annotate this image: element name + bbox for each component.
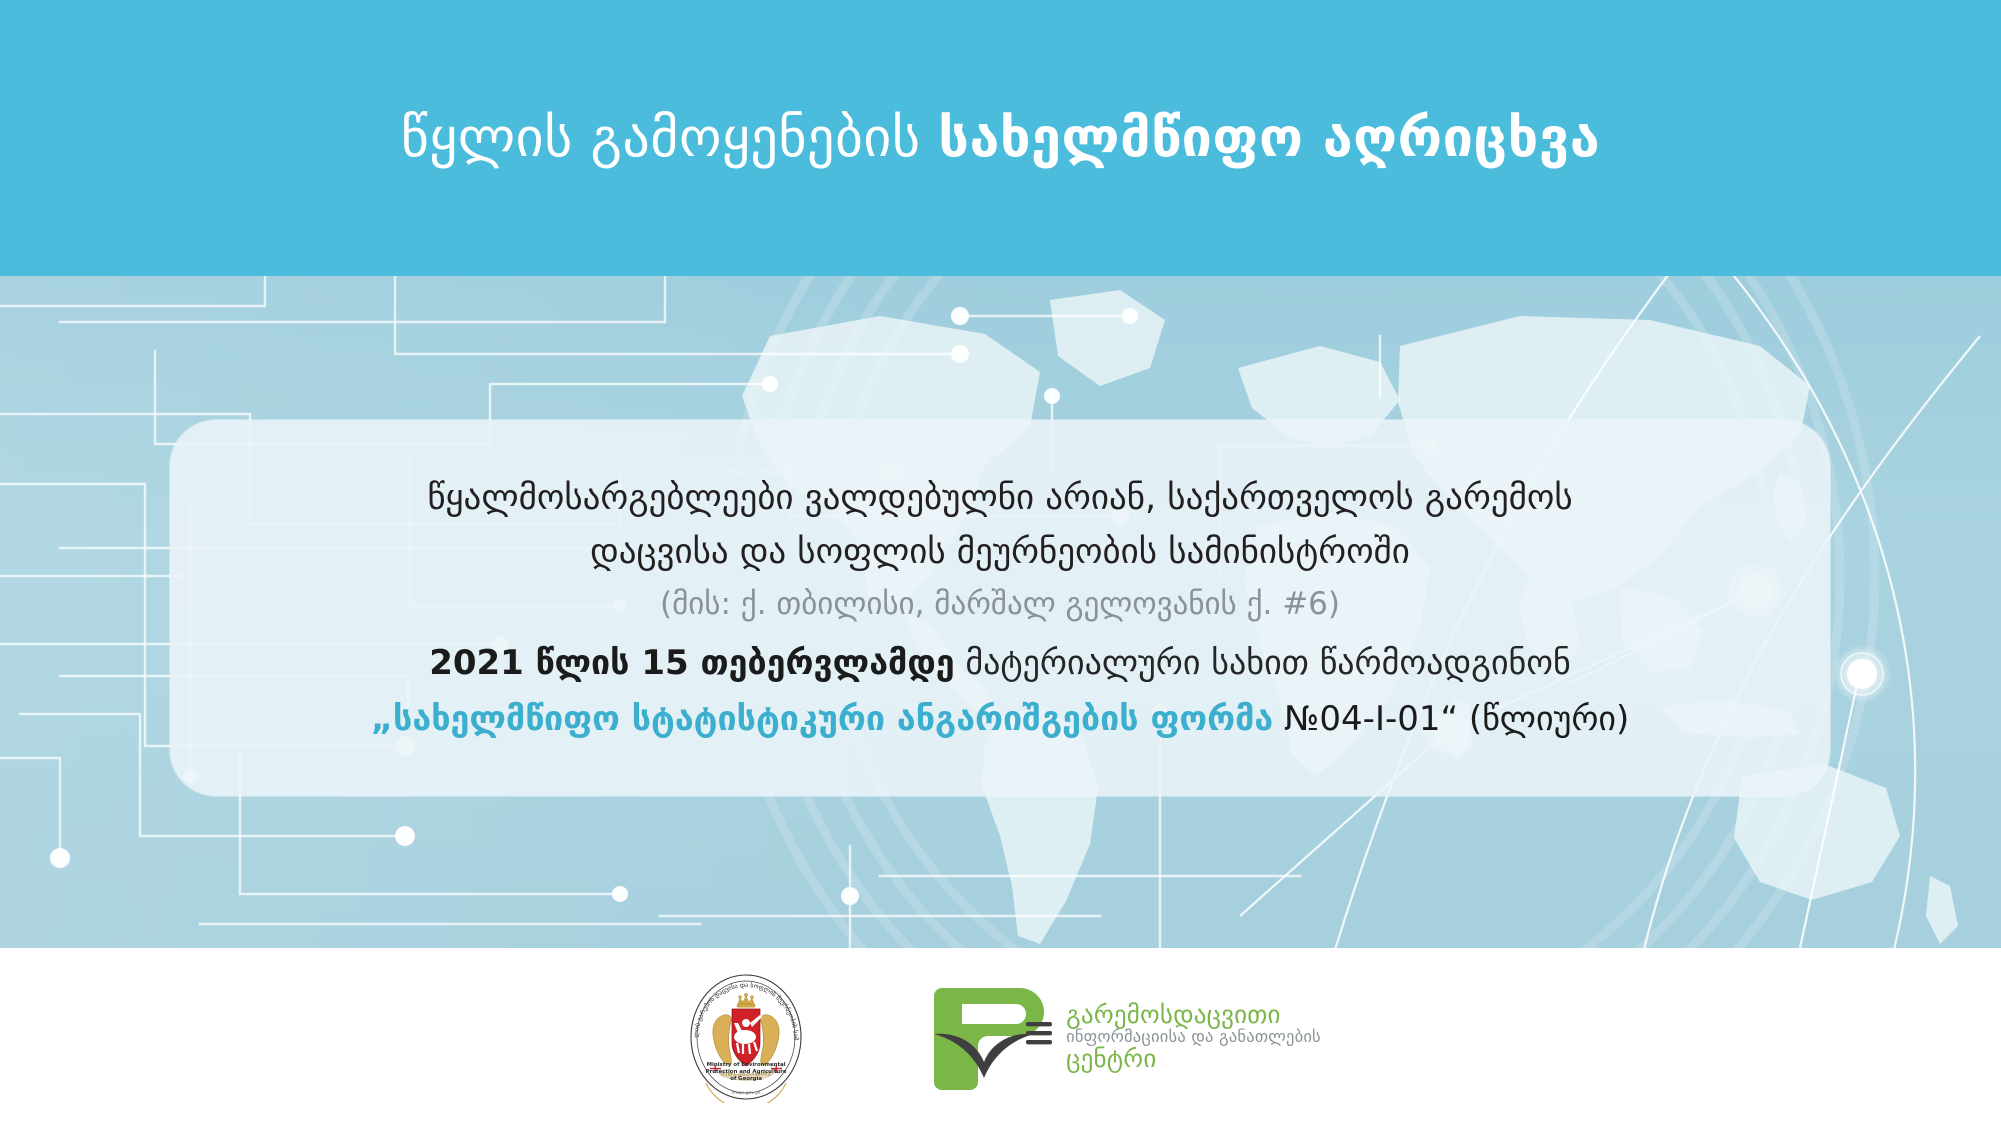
eiec-logo: გარემოსდაცვითი ინფორმაციისა და განათლები…	[934, 982, 1321, 1092]
eiec-line-1: გარემოსდაცვითი	[1066, 1002, 1321, 1029]
form-name: „სახელმწიფო სტატისტიკური ანგარიშგების ფო…	[371, 699, 1274, 739]
ministry-seal-url: mepa.gov.ge	[680, 1090, 812, 1095]
page-title-light: წყლის გამოყენების	[401, 106, 938, 169]
footer-logo-bar: საქართველოს გარემოს დაცვისა და სოფლის მე…	[0, 948, 2001, 1126]
form-number: №04-I-01“ (წლიური)	[1273, 699, 1629, 739]
slide-root: წყლის გამოყენების სახელმწიფო აღრიცხვა	[0, 0, 2001, 1126]
header-banner: წყლის გამოყენების სახელმწიფო აღრიცხვა	[0, 0, 2001, 276]
content-band: წყალმოსარგებლეები ვალდებულნი არიან, საქა…	[0, 276, 2001, 948]
open-book-leaf-icon	[934, 982, 1052, 1092]
announcement-card: წყალმოსარგებლეები ვალდებულნი არიან, საქა…	[170, 420, 1830, 796]
page-title: წყლის გამოყენების სახელმწიფო აღრიცხვა	[401, 108, 1600, 167]
georgia-coat-of-arms-icon: საქართველოს გარემოს დაცვისა და სოფლის მე…	[680, 971, 812, 1103]
card-address-line: (მის: ქ. თბილისი, მარშალ გელოვანის ქ. #6…	[660, 581, 1340, 628]
eiec-logo-text: გარემოსდაცვითი ინფორმაციისა და განათლები…	[1066, 1002, 1321, 1072]
page-title-bold: სახელმწიფო აღრიცხვა	[938, 106, 1600, 169]
card-line-2: დაცვისა და სოფლის მეურნეობის სამინისტროშ…	[590, 525, 1410, 579]
card-form-line: „სახელმწიფო სტატისტიკური ანგარიშგების ფო…	[371, 693, 1630, 746]
ministry-seal-logo: საქართველოს გარემოს დაცვისა და სოფლის მე…	[680, 971, 812, 1103]
eiec-line-3: ცენტრი	[1066, 1046, 1321, 1073]
card-line-1: წყალმოსარგებლეები ვალდებულნი არიან, საქა…	[427, 471, 1572, 525]
deadline-date: 2021 წლის 15 თებერვლამდე	[429, 643, 954, 683]
deadline-instruction: მატერიალური სახით წარმოადგინონ	[955, 643, 1571, 683]
card-deadline-line: 2021 წლის 15 თებერვლამდე მატერიალური სახ…	[429, 636, 1571, 691]
ministry-seal-label: Ministry of Environmental Protection and…	[680, 1062, 812, 1083]
